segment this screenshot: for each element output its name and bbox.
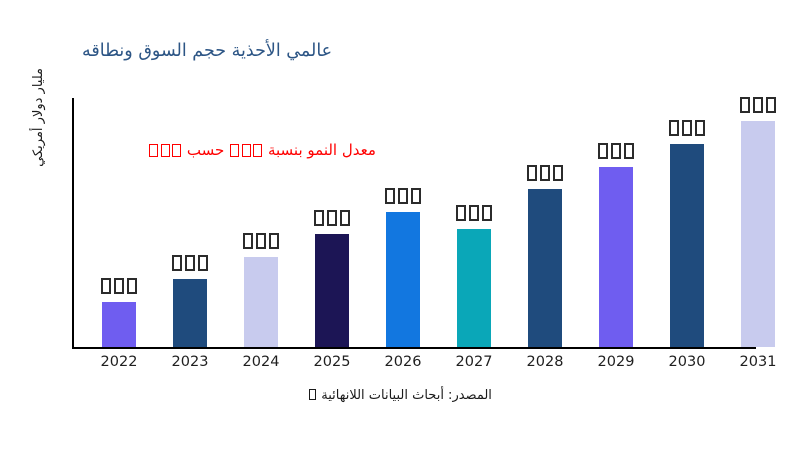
missing-glyph-icon bbox=[127, 278, 137, 294]
x-tick-2026: 2026 bbox=[373, 354, 433, 370]
missing-glyph-icon bbox=[385, 188, 395, 204]
x-tick-2031: 2031 bbox=[728, 354, 788, 370]
bar-group bbox=[528, 189, 562, 347]
x-tick-2030: 2030 bbox=[657, 354, 717, 370]
bar-value-label bbox=[235, 233, 287, 251]
bar-2029[interactable] bbox=[599, 167, 633, 347]
missing-glyph-icon bbox=[469, 205, 479, 221]
missing-glyph-icon bbox=[256, 233, 266, 249]
bar-value-label bbox=[519, 165, 571, 183]
chart-container: عالمي الأحذية حجم السوق ونطاقه مليار دول… bbox=[0, 0, 800, 450]
source-text: المصدر: أبحاث البيانات اللانهائية bbox=[321, 388, 492, 403]
missing-glyph-icon bbox=[482, 205, 492, 221]
missing-glyph-icon bbox=[411, 188, 421, 204]
bar-2024[interactable] bbox=[244, 257, 278, 347]
bar-value-label bbox=[448, 205, 500, 223]
bar-2022[interactable] bbox=[102, 302, 136, 347]
bar-group bbox=[244, 257, 278, 347]
bar-2028[interactable] bbox=[528, 189, 562, 347]
bar-2027[interactable] bbox=[457, 229, 491, 347]
missing-glyph-icon bbox=[269, 233, 279, 249]
y-axis-label: مليار دولار أمريكي bbox=[31, 68, 46, 288]
missing-glyph-icon bbox=[611, 143, 621, 159]
x-tick-2022: 2022 bbox=[89, 354, 149, 370]
x-tick-2024: 2024 bbox=[231, 354, 291, 370]
missing-glyph-icon bbox=[243, 233, 253, 249]
bar-group bbox=[741, 121, 775, 347]
x-tick-2027: 2027 bbox=[444, 354, 504, 370]
bar-value-label bbox=[93, 278, 145, 296]
bar-2025[interactable] bbox=[315, 234, 349, 347]
missing-glyph-icon bbox=[101, 278, 111, 294]
x-tick-2028: 2028 bbox=[515, 354, 575, 370]
bar-2030[interactable] bbox=[670, 144, 704, 347]
missing-glyph-icon bbox=[309, 389, 316, 400]
missing-glyph-icon bbox=[114, 278, 124, 294]
bar-value-label bbox=[732, 97, 784, 115]
missing-glyph-icon bbox=[172, 255, 182, 271]
missing-glyph-icon bbox=[527, 165, 537, 181]
bar-value-label bbox=[590, 143, 642, 161]
source-note: المصدر: أبحاث البيانات اللانهائية bbox=[0, 388, 800, 403]
bar-value-label bbox=[306, 210, 358, 228]
bar-value-label bbox=[661, 120, 713, 138]
missing-glyph-icon bbox=[185, 255, 195, 271]
missing-glyph-icon bbox=[553, 165, 563, 181]
x-tick-2023: 2023 bbox=[160, 354, 220, 370]
bar-group bbox=[386, 212, 420, 347]
bar-value-label bbox=[164, 255, 216, 273]
missing-glyph-icon bbox=[624, 143, 634, 159]
missing-glyph-icon bbox=[669, 120, 679, 136]
bar-value-label bbox=[377, 188, 429, 206]
bar-group bbox=[102, 302, 136, 347]
missing-glyph-icon bbox=[398, 188, 408, 204]
bar-group bbox=[599, 167, 633, 347]
missing-glyph-icon bbox=[598, 143, 608, 159]
x-tick-2029: 2029 bbox=[586, 354, 646, 370]
bar-group bbox=[670, 144, 704, 347]
x-tick-2025: 2025 bbox=[302, 354, 362, 370]
bar-2023[interactable] bbox=[173, 279, 207, 347]
missing-glyph-icon bbox=[198, 255, 208, 271]
missing-glyph-icon bbox=[695, 120, 705, 136]
missing-glyph-icon bbox=[456, 205, 466, 221]
missing-glyph-icon bbox=[753, 97, 763, 113]
missing-glyph-icon bbox=[766, 97, 776, 113]
bar-group bbox=[457, 229, 491, 347]
missing-glyph-icon bbox=[682, 120, 692, 136]
bar-group bbox=[315, 234, 349, 347]
page-title: عالمي الأحذية حجم السوق ونطاقه bbox=[82, 41, 332, 61]
missing-glyph-icon bbox=[540, 165, 550, 181]
missing-glyph-icon bbox=[340, 210, 350, 226]
bar-2031[interactable] bbox=[741, 121, 775, 347]
bar-2026[interactable] bbox=[386, 212, 420, 347]
missing-glyph-icon bbox=[314, 210, 324, 226]
missing-glyph-icon bbox=[327, 210, 337, 226]
missing-glyph-icon bbox=[740, 97, 750, 113]
bar-group bbox=[173, 279, 207, 347]
